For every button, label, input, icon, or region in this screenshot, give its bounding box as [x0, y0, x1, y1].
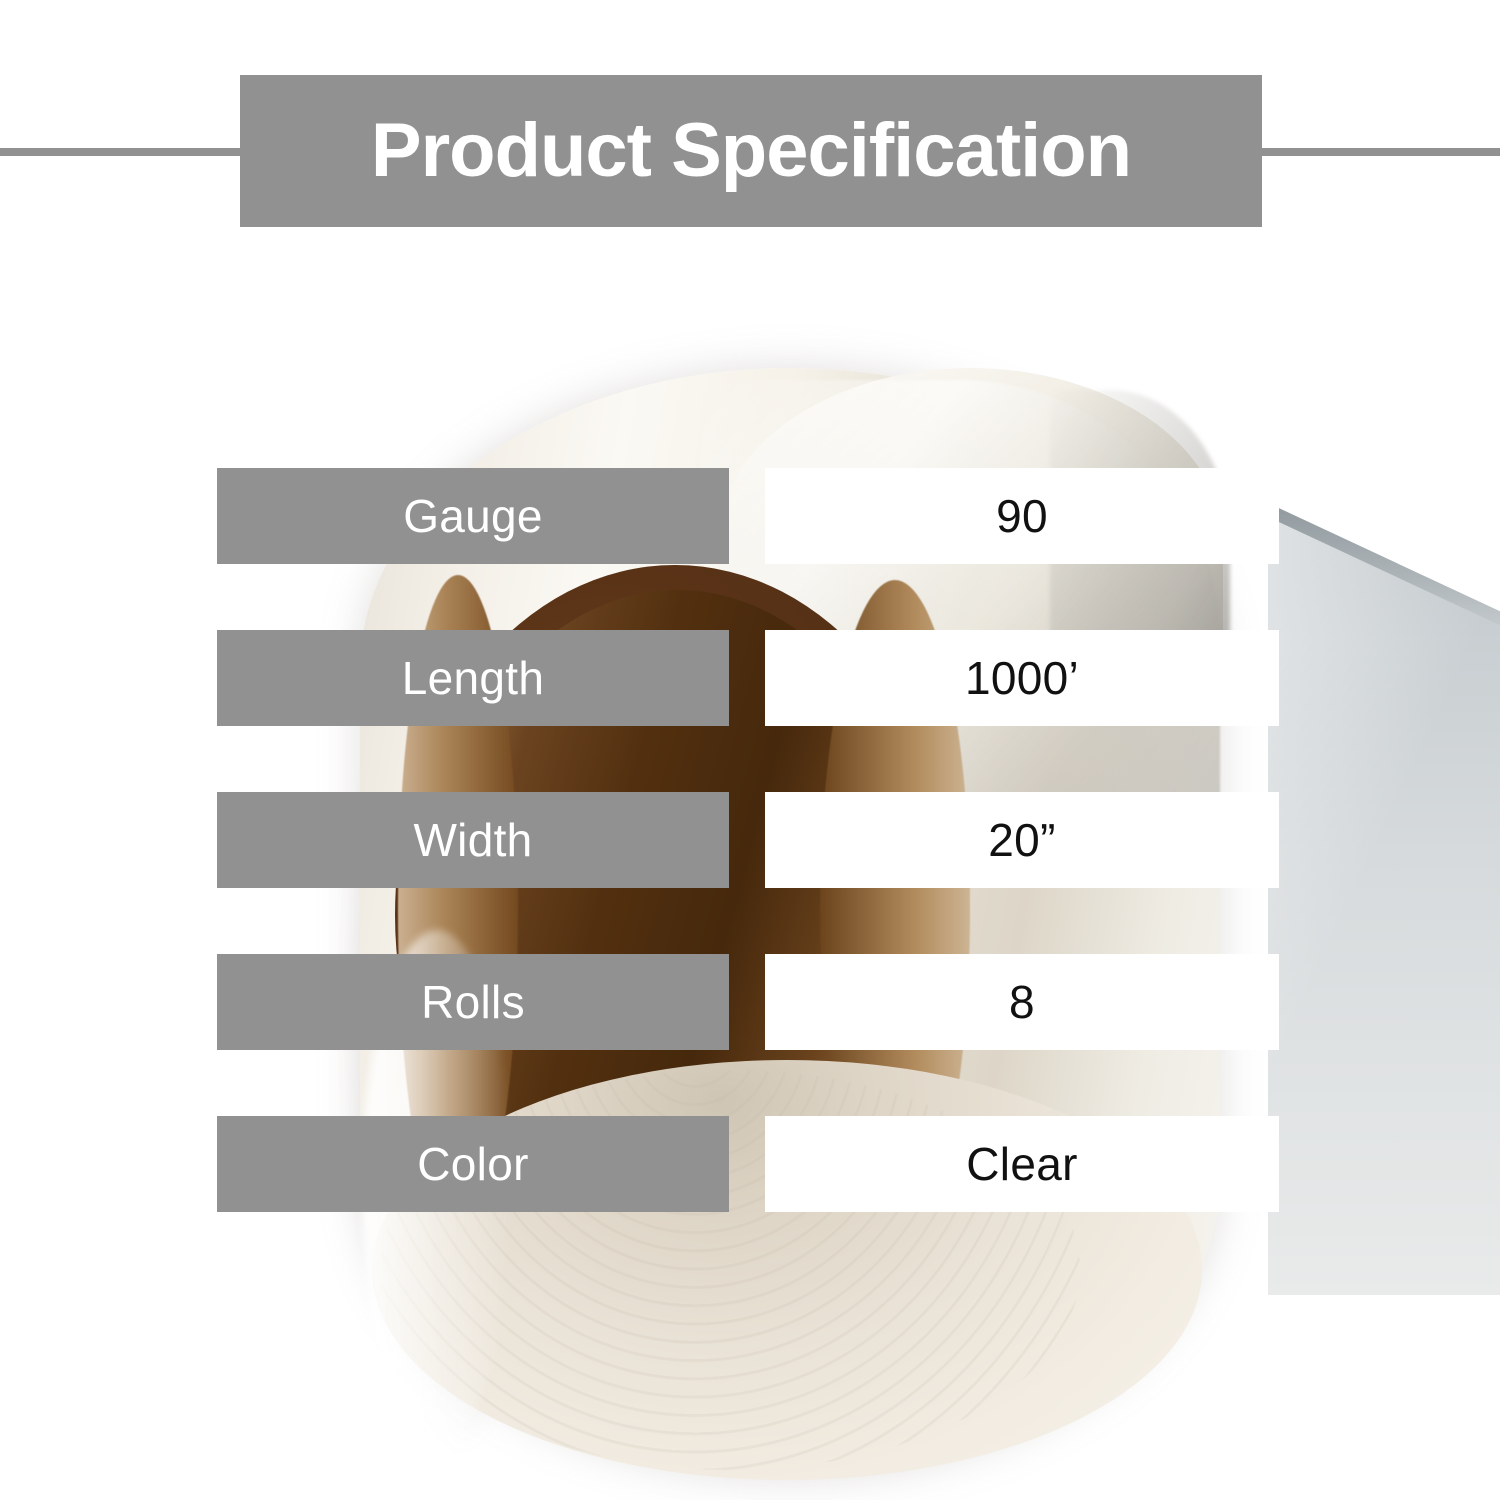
- table-row: Length 1000’: [0, 630, 1500, 726]
- spec-label-width: Width: [217, 792, 729, 888]
- spec-label-gauge: Gauge: [217, 468, 729, 564]
- table-row: Color Clear: [0, 1116, 1500, 1212]
- spec-value-color: Clear: [765, 1116, 1279, 1212]
- spec-label-color: Color: [217, 1116, 729, 1212]
- table-row: Width 20”: [0, 792, 1500, 888]
- spec-value-width: 20”: [765, 792, 1279, 888]
- spec-label-rolls: Rolls: [217, 954, 729, 1050]
- header-banner: Product Specification: [240, 75, 1262, 227]
- table-row: Rolls 8: [0, 954, 1500, 1050]
- spec-label-length: Length: [217, 630, 729, 726]
- page-title: Product Specification: [371, 113, 1131, 189]
- spec-value-length: 1000’: [765, 630, 1279, 726]
- spec-value-rolls: 8: [765, 954, 1279, 1050]
- table-row: Gauge 90: [0, 468, 1500, 564]
- spec-value-gauge: 90: [765, 468, 1279, 564]
